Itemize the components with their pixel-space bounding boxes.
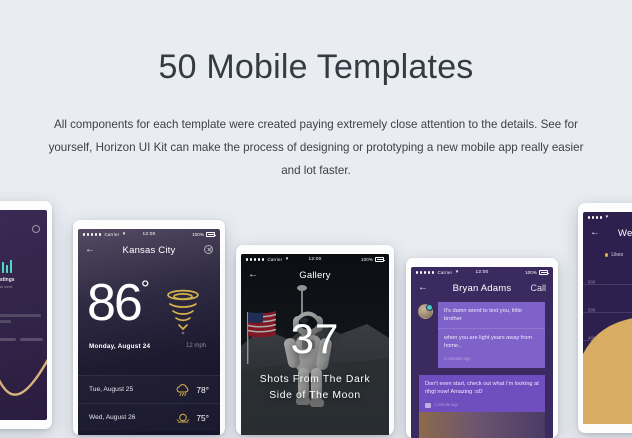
- bar-chart-icon: [0, 258, 41, 273]
- phone-mockup-weather[interactable]: Carrier ▾ 12:00 100% ← Kansas City 86°: [73, 220, 225, 435]
- wifi-icon: ▾: [456, 270, 459, 275]
- gallery-title: Gallery: [270, 270, 360, 281]
- status-bar: Carrier ▾ 12:00 100%: [411, 267, 553, 278]
- chat-navbar: ← Bryan Adams Call: [411, 278, 553, 298]
- status-bar-right: 100%: [156, 232, 216, 237]
- gallery-photo-count: 37: [241, 318, 389, 360]
- battery-icon: [375, 257, 384, 261]
- legend-label: Likes: [611, 252, 623, 258]
- close-circle-icon[interactable]: [191, 245, 213, 256]
- call-button[interactable]: Call: [524, 283, 546, 293]
- analytics-text-block: [0, 314, 41, 326]
- status-time: 12:00: [309, 257, 322, 262]
- page-description: All components for each template were cr…: [46, 113, 586, 182]
- wifi-icon: ▾: [123, 232, 126, 237]
- chat-screen: Carrier ▾ 12:00 100% ← Bryan Adams Call …: [411, 267, 553, 438]
- carrier-label: Carrier: [104, 232, 119, 237]
- wifi-icon: ▾: [286, 257, 289, 262]
- weather-navbar: ← Kansas City: [78, 240, 220, 260]
- y-axis-label: 600: [588, 280, 595, 285]
- area-chart: [583, 314, 632, 424]
- forecast-day: Tue, August 25: [89, 386, 175, 393]
- stats-title: Weekly: [612, 228, 632, 239]
- gear-icon[interactable]: [32, 225, 40, 233]
- chat-message-text: It's damn wierd to text you, little brot…: [444, 308, 522, 322]
- status-bar: ▾: [583, 212, 632, 223]
- wifi-icon: ▾: [606, 215, 609, 220]
- battery-icon: [206, 232, 215, 236]
- chat-message-list: It's damn wierd to text you, little brot…: [411, 300, 553, 438]
- analytics-stat-label: Listings: [0, 277, 41, 283]
- gridline: 600: [583, 284, 632, 285]
- chat-message-text: Don't even start, check out what I'm loo…: [425, 381, 539, 395]
- status-time: 12:00: [476, 270, 489, 275]
- phone-mockup-analytics[interactable]: Listings this week: [0, 201, 52, 429]
- status-bar: Carrier ▾ 12:00 100%: [241, 254, 389, 265]
- status-bar-left: Carrier ▾: [246, 257, 309, 262]
- gallery-screen: Carrier ▾ 12:00 100% ← Gallery 37 Shots …: [241, 254, 389, 435]
- gridline: 500: [583, 312, 632, 313]
- back-arrow-icon[interactable]: ←: [590, 228, 612, 238]
- forecast-temp: 78°: [196, 385, 209, 395]
- analytics-stat-cell: Listings this week: [0, 254, 41, 306]
- battery-percent: 100%: [361, 257, 373, 262]
- phone-mockup-gallery[interactable]: Carrier ▾ 12:00 100% ← Gallery 37 Shots …: [236, 245, 394, 435]
- placeholder-line: [0, 314, 41, 317]
- battery-percent: 100%: [525, 270, 537, 275]
- analytics-stat-card: Listings this week: [0, 254, 41, 306]
- gallery-caption: Shots From The Dark Side of The Moon: [249, 372, 381, 404]
- stats-navbar: ← Weekly: [583, 223, 632, 243]
- weather-screen: Carrier ▾ 12:00 100% ← Kansas City 86°: [78, 229, 220, 435]
- forecast-day: Wed, August 26: [89, 414, 175, 421]
- placeholder-line: [0, 320, 11, 323]
- back-arrow-icon[interactable]: ←: [418, 283, 440, 293]
- sun-cloud-icon: [175, 411, 191, 425]
- phone-mockup-chat[interactable]: Carrier ▾ 12:00 100% ← Bryan Adams Call …: [406, 258, 558, 438]
- status-bar-right: 100%: [322, 257, 385, 262]
- forecast-temp: 75°: [196, 413, 209, 423]
- chat-attachment-preview[interactable]: [419, 412, 545, 438]
- chat-message-meta: 1 minute ago: [425, 401, 539, 409]
- weather-forecast-list: Tue, August 25 78° Wed, August 26 75°: [78, 375, 220, 435]
- hero-section: 50 Mobile Templates All components for e…: [0, 0, 632, 205]
- status-bar-left: ▾: [588, 215, 632, 220]
- battery-percent: 100%: [192, 232, 204, 237]
- weather-current: 86° Monday, August 24 12 mph: [78, 281, 220, 359]
- analytics-screen: Listings this week: [0, 210, 47, 420]
- status-time: 12:00: [143, 232, 156, 237]
- phone-mockup-stats[interactable]: ▾ ← Weekly Likes 600 500 400 300 200: [578, 203, 632, 433]
- current-wind: 12 mph: [186, 343, 206, 349]
- forecast-row[interactable]: Tue, August 25 78°: [78, 375, 220, 403]
- analytics-header: [0, 223, 47, 249]
- stats-screen: ▾ ← Weekly Likes 600 500 400 300 200: [583, 212, 632, 424]
- chat-message-time: 2 minutes ago: [444, 355, 539, 363]
- current-temperature: 86°: [87, 277, 148, 329]
- carrier-label: Carrier: [437, 270, 452, 275]
- back-arrow-icon[interactable]: ←: [248, 270, 270, 280]
- status-bar-right: 100%: [489, 270, 549, 275]
- analytics-stat-sub: this week: [0, 285, 41, 289]
- wave-chart: [0, 328, 47, 420]
- chat-bubble-incoming[interactable]: It's damn wierd to text you, little brot…: [438, 302, 545, 328]
- chat-bubble-outgoing[interactable]: Don't even start, check out what I'm loo…: [419, 375, 545, 414]
- image-attachment-icon: [425, 403, 431, 408]
- tornado-icon: [160, 287, 206, 335]
- carrier-label: Carrier: [267, 257, 282, 262]
- storm-cloud-icon: [175, 383, 191, 397]
- chat-message-time: 1 minute ago: [434, 401, 458, 409]
- current-date: Monday, August 24: [89, 343, 150, 350]
- forecast-row[interactable]: Wed, August 26 75°: [78, 403, 220, 431]
- avatar[interactable]: [418, 304, 433, 319]
- legend-color-swatch: [605, 253, 608, 256]
- status-bar-left: Carrier ▾: [83, 232, 143, 237]
- degree-symbol: °: [141, 276, 148, 301]
- gallery-navbar: ← Gallery: [241, 265, 389, 285]
- chat-contact-name: Bryan Adams: [440, 283, 524, 294]
- chart-legend: Likes: [605, 252, 623, 258]
- battery-icon: [539, 270, 548, 274]
- weather-city-title: Kansas City: [107, 245, 191, 256]
- chat-message-text: when you are light years away from home.…: [444, 335, 532, 349]
- page-title: 50 Mobile Templates: [0, 48, 632, 87]
- status-bar: Carrier ▾ 12:00 100%: [78, 229, 220, 240]
- status-bar-left: Carrier ▾: [416, 270, 476, 275]
- y-axis-label: 500: [588, 308, 595, 313]
- back-arrow-icon[interactable]: ←: [85, 245, 107, 255]
- chat-bubble-incoming[interactable]: when you are light years away from home.…: [438, 328, 545, 368]
